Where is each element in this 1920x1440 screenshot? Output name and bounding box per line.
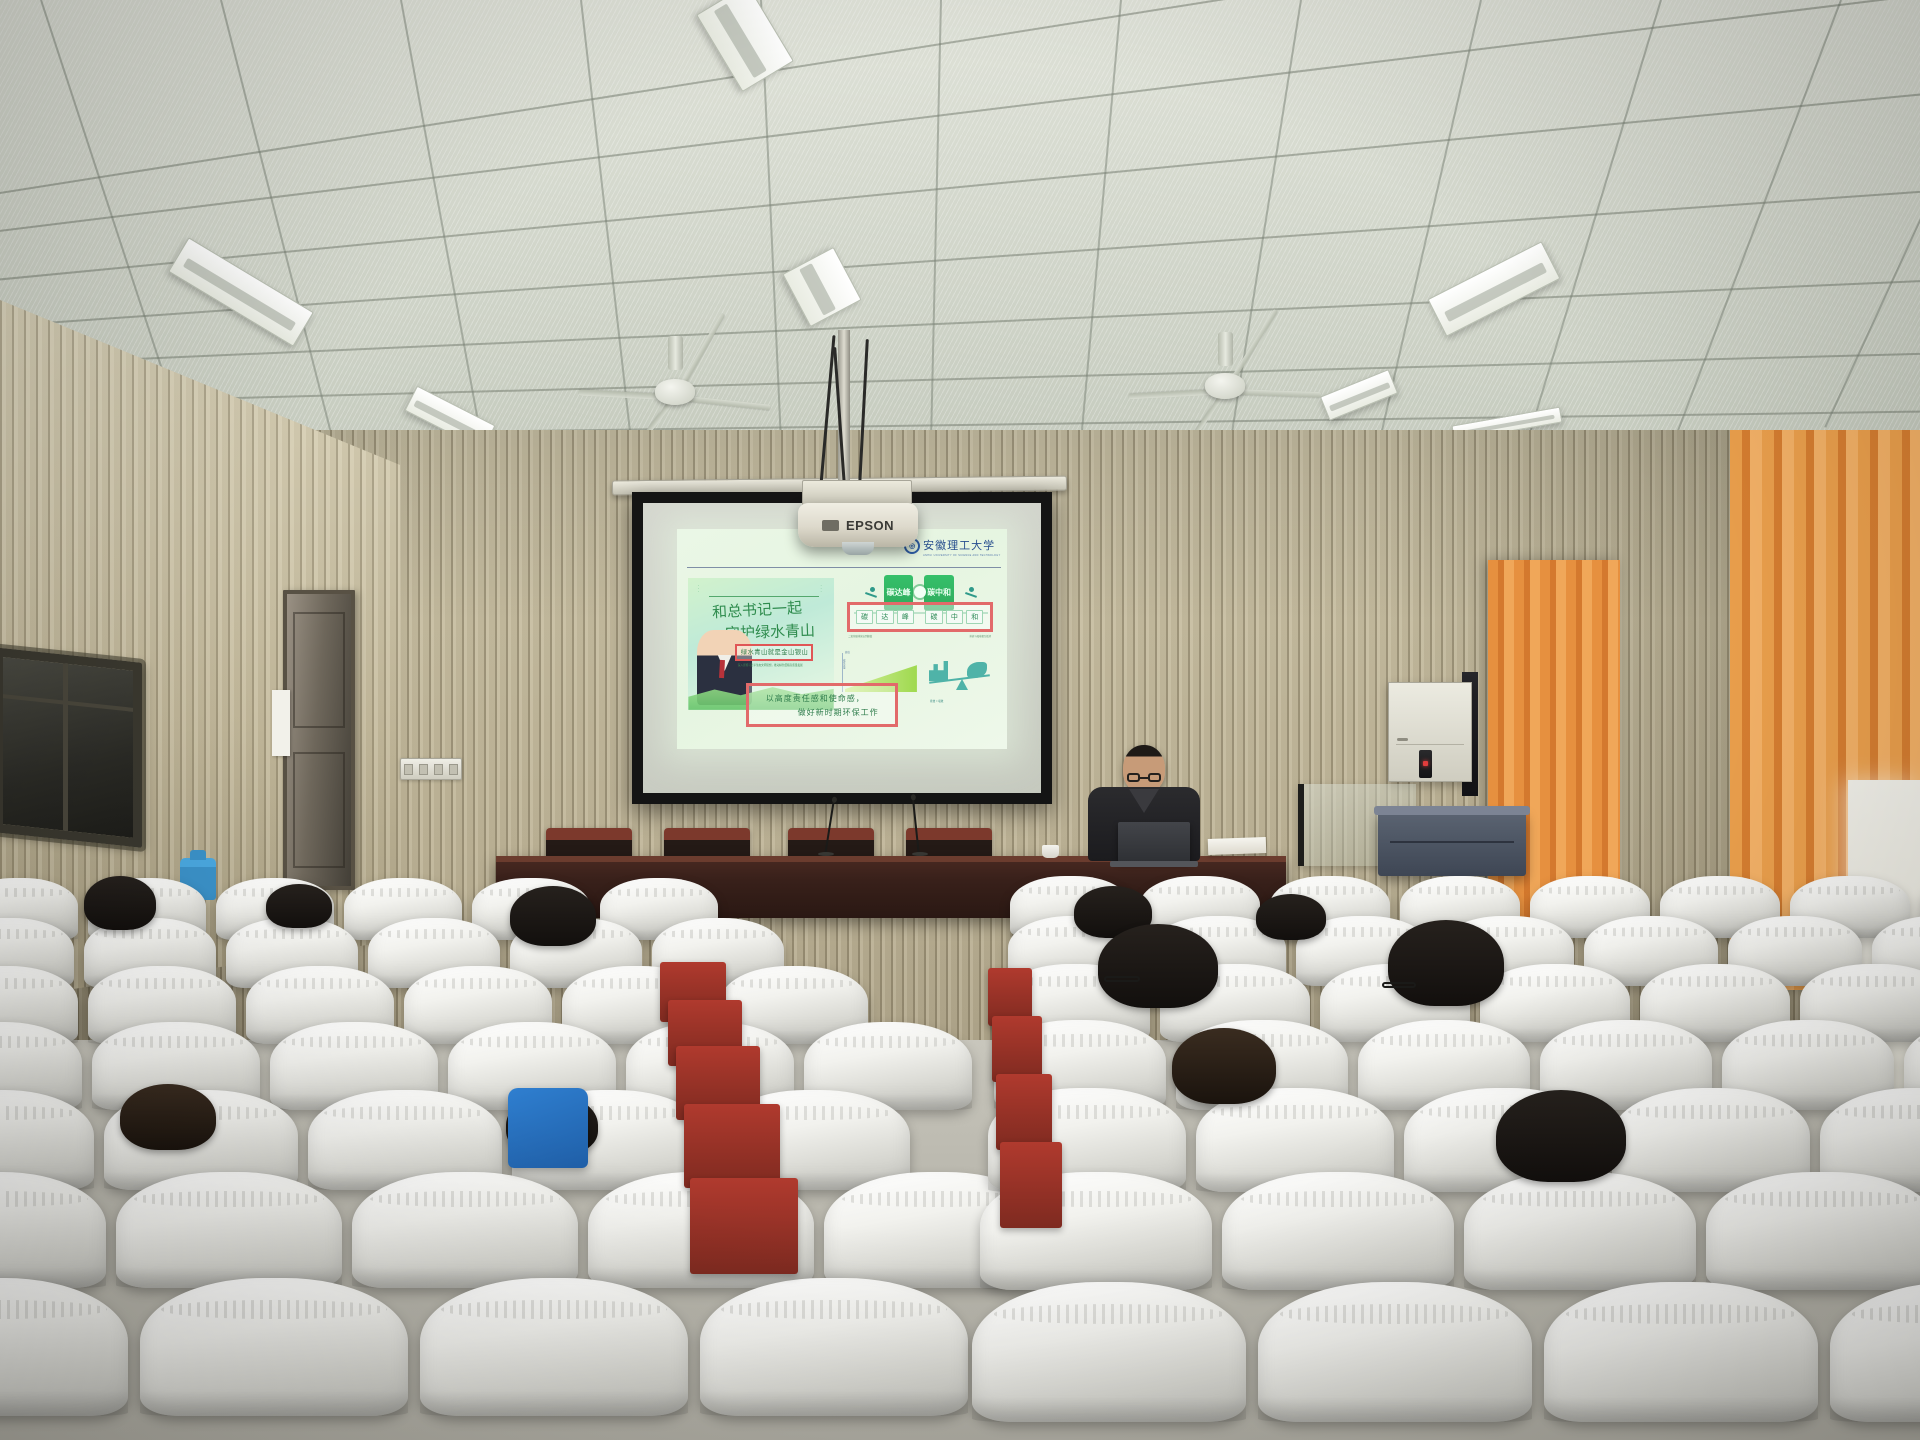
diagram-character-row: 碳 达 峰 碳 中 和	[847, 602, 993, 632]
cabinet-handle-icon[interactable]	[1397, 738, 1408, 741]
ceiling-grid-line	[0, 348, 1920, 410]
char-cell: 碳	[856, 610, 873, 624]
poster-highlight-text: 绿水青山就是金山银山	[740, 648, 808, 657]
slide-divider	[687, 567, 1001, 568]
poster-rule	[709, 596, 819, 597]
ceiling-grid-line	[929, 0, 942, 470]
diagram-box-neutral-label: 碳中和	[927, 589, 951, 597]
carbon-balance-graphic: 排放 = 吸收	[924, 653, 993, 701]
laptop[interactable]	[1118, 822, 1190, 862]
poster-vertical-text: ・・・	[818, 584, 822, 593]
seat-frame	[1000, 1142, 1062, 1228]
char-cell: 碳	[925, 610, 942, 624]
balance-left-label: 排放	[930, 700, 935, 703]
poster-fine-print: 深入贯彻习近平生态文明思想，推动绿色低碳高质量发展	[738, 664, 811, 668]
presenter-head	[1123, 745, 1165, 793]
door[interactable]	[283, 590, 355, 890]
audience-seat	[1544, 1282, 1818, 1422]
puzzle-knob	[914, 586, 926, 598]
ceiling-grid-line	[220, 0, 338, 456]
fan-hub	[1205, 373, 1245, 399]
audience-seat	[700, 1278, 968, 1416]
papers	[1208, 837, 1267, 855]
audience-member-head	[1496, 1090, 1626, 1182]
ceiling-grid-line	[1078, 0, 1122, 468]
audience-seat	[116, 1172, 342, 1288]
slide-bottom-callout: 以高度责任感和使命感， 做好新时期环保工作	[746, 683, 898, 727]
cabinet-seam	[1396, 744, 1465, 745]
chart-peak-label: 峰值	[845, 650, 850, 654]
lecture-hall-photo: ◎ 安徽理工大学 ANHUI UNIVERSITY OF SCIENCE AND…	[0, 0, 1920, 1440]
ceiling-fan	[590, 362, 760, 422]
diagram-caption-left: 二氧化碳排放达到峰值	[848, 634, 872, 638]
outlet-slot	[434, 764, 443, 775]
lectern	[1378, 812, 1526, 876]
diagram-box-peak-label: 碳达峰	[887, 589, 911, 597]
projector: EPSON	[798, 503, 918, 547]
audience-seat	[352, 1172, 578, 1288]
window-transom	[3, 694, 133, 712]
slide-carbon-diagram: 碳达峰 碳中和 碳 达 峰 碳 中 和	[842, 575, 997, 650]
audience-member-head	[1256, 894, 1326, 940]
char-cell: 和	[966, 610, 983, 624]
callout-line1: 以高度责任感和使命感，	[766, 693, 879, 704]
poster-vertical-text: ・・・	[696, 584, 700, 593]
poster-headline-line1: 和总书记一起	[711, 596, 802, 622]
projector-lens	[842, 542, 874, 555]
backpack	[508, 1088, 588, 1168]
char-cell: 中	[946, 610, 963, 624]
wall-notice	[272, 690, 290, 756]
balance-right-label: 吸收	[938, 700, 943, 703]
door-panel-lower	[293, 752, 344, 869]
fan-rod	[668, 336, 683, 370]
ceiling-grid-line	[1524, 0, 1662, 450]
window	[0, 647, 142, 848]
outlet-slot	[419, 764, 428, 775]
projector-brand-label: EPSON	[846, 518, 894, 533]
lectern-seam	[1390, 841, 1514, 843]
window-mullion	[63, 663, 68, 831]
seat-frame	[992, 1016, 1042, 1082]
audience-seat	[1222, 1172, 1454, 1290]
cable	[833, 347, 846, 485]
cable	[858, 339, 869, 485]
audience-seat	[420, 1278, 688, 1416]
status-indicator-device	[1419, 750, 1432, 778]
eyeglasses-icon	[1104, 976, 1140, 982]
ceiling-fan	[1140, 358, 1310, 414]
outlet-slot	[449, 764, 458, 775]
audience-member-head	[84, 876, 156, 930]
audience-member-head	[1388, 920, 1504, 1006]
seat-frame	[690, 1178, 798, 1274]
audience-member-head	[1172, 1028, 1276, 1104]
diagram-caption-right: 排放与吸收相互抵消	[970, 634, 992, 638]
eyeglasses-icon	[1382, 982, 1416, 988]
audience-member-head	[1098, 924, 1218, 1008]
seat-frame	[684, 1104, 780, 1188]
outlet-slot	[404, 764, 413, 775]
char-cell: 达	[876, 610, 893, 624]
poster-highlight-box: 绿水青山就是金山银山	[735, 644, 813, 661]
audience-member-head	[120, 1084, 216, 1150]
diagram-captions: 二氧化碳排放达到峰值 排放与吸收相互抵消	[848, 634, 991, 638]
audience-seat	[972, 1282, 1246, 1422]
slide-logo-subtext: ANHUI UNIVERSITY OF SCIENCE AND TECHNOLO…	[923, 554, 1000, 557]
ceiling-grid-line	[1824, 0, 1920, 428]
laptop-base	[1110, 861, 1198, 867]
audience-seat	[1706, 1172, 1920, 1290]
eyeglasses-icon	[1127, 773, 1161, 782]
wall-power-outlet[interactable]	[400, 758, 462, 780]
fan-hub	[655, 379, 695, 405]
ceiling-grid	[0, 0, 1920, 470]
slide-institution-logo: ◎ 安徽理工大学 ANHUI UNIVERSITY OF SCIENCE AND…	[904, 536, 1000, 557]
audience-member-head	[510, 886, 596, 946]
door-panel-upper	[293, 612, 344, 729]
fan-rod	[1218, 332, 1233, 366]
projector-vent-icon	[822, 520, 839, 531]
seat-frame	[996, 1074, 1052, 1150]
slide-logo-text: 安徽理工大学	[923, 539, 995, 552]
callout-line2: 做好新时期环保工作	[798, 707, 879, 718]
audience-seat	[1258, 1282, 1532, 1422]
ceiling	[0, 0, 1920, 470]
cup	[1042, 845, 1059, 858]
balance-label: 排放 = 吸收	[930, 699, 943, 703]
audience-seat	[1464, 1172, 1696, 1290]
ceiling-grid-line	[1674, 0, 1842, 440]
ceiling-grid-line	[0, 0, 1920, 254]
lectern-top	[1374, 806, 1530, 815]
balance-fulcrum-icon	[956, 679, 968, 690]
factory-icon	[929, 659, 951, 681]
audience-member-head	[266, 884, 332, 928]
char-cell: 峰	[897, 610, 914, 624]
projected-slide: ◎ 安徽理工大学 ANHUI UNIVERSITY OF SCIENCE AND…	[677, 529, 1007, 749]
chart-y-label: 碳排放量	[841, 659, 845, 669]
projector-cables	[800, 335, 920, 495]
audience-seat	[140, 1278, 408, 1416]
